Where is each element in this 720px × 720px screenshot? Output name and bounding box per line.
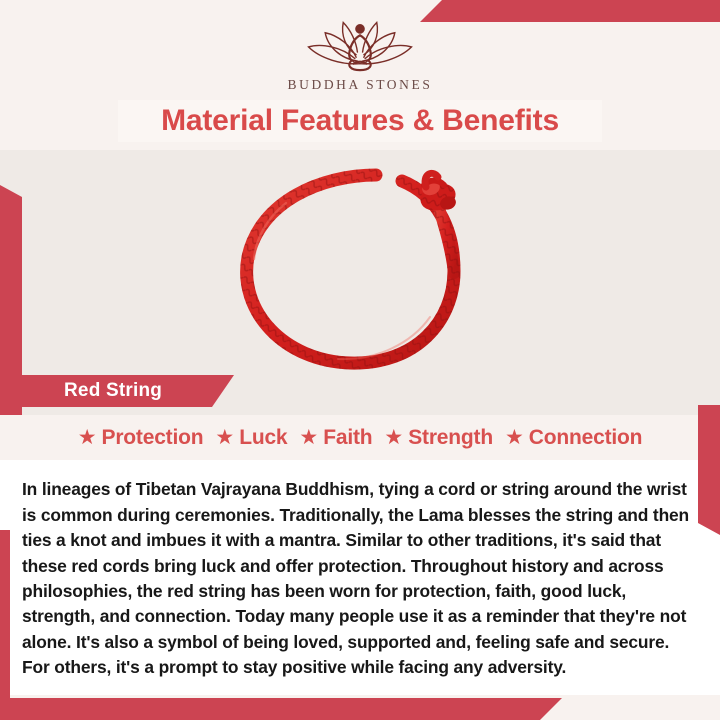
star-icon: ★ (505, 427, 524, 448)
decoration-left-edge-bar (0, 530, 10, 720)
star-icon: ★ (384, 427, 403, 448)
star-icon: ★ (299, 427, 318, 448)
benefit-label: Luck (239, 426, 287, 450)
benefit-label: Protection (102, 426, 204, 450)
benefit-label: Connection (529, 426, 643, 450)
tag-label: Red String (64, 380, 162, 402)
benefit-item-strength: ★ Strength (378, 426, 499, 450)
page-title: Material Features & Benefits (161, 104, 559, 138)
decoration-right-vertical-bar (698, 405, 720, 535)
benefit-label: Strength (408, 426, 493, 450)
red-string-tag: Red String (12, 375, 234, 407)
lotus-meditation-figure-icon (295, 16, 425, 74)
benefit-label: Faith (323, 426, 372, 450)
decoration-bottom-bar (0, 698, 562, 720)
red-string-bracelet-icon (226, 161, 494, 376)
brand-name: BUDDHA STONES (0, 77, 720, 93)
product-image (0, 152, 720, 384)
benefits-row: ★ Protection ★ Luck ★ Faith ★ Strength ★… (22, 418, 698, 458)
benefit-item-connection: ★ Connection (499, 426, 648, 450)
poster-canvas: BUDDHA STONES Material Features & Benefi… (0, 0, 720, 720)
benefit-item-luck: ★ Luck (209, 426, 293, 450)
benefit-item-faith: ★ Faith (293, 426, 378, 450)
benefit-item-protection: ★ Protection (72, 426, 210, 450)
description-paragraph: In lineages of Tibetan Vajrayana Buddhis… (22, 477, 696, 680)
title-banner: Material Features & Benefits (118, 100, 602, 142)
star-icon: ★ (78, 427, 97, 448)
brand-logo: BUDDHA STONES (0, 16, 720, 93)
star-icon: ★ (215, 427, 234, 448)
